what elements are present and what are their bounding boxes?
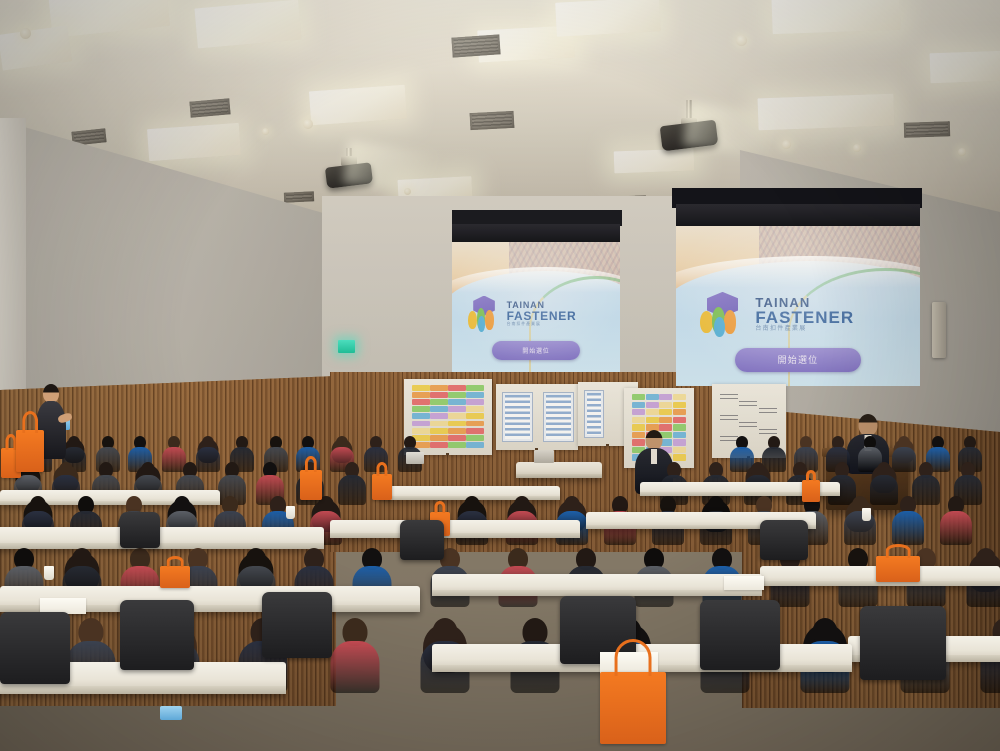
sticky-note xyxy=(430,399,448,405)
seated-attendee xyxy=(844,496,876,544)
recessed-led-panel xyxy=(771,0,900,34)
recessed-led-panel xyxy=(147,123,241,161)
recessed-downlight xyxy=(20,28,31,39)
handwritten-notes xyxy=(759,408,777,413)
sticky-note xyxy=(430,421,448,427)
sticky-note xyxy=(646,394,659,400)
recessed-downlight xyxy=(404,188,411,195)
sticky-note xyxy=(673,447,686,453)
recessed-led-panel xyxy=(309,85,407,126)
sticky-note xyxy=(430,385,448,391)
table-edge xyxy=(516,474,602,478)
sticky-note xyxy=(632,402,645,408)
sticky-note xyxy=(430,428,448,434)
logo-line-tainan: TAINAN xyxy=(755,296,903,309)
logo-line-fastener: FASTENER xyxy=(755,309,903,326)
attendee-chair xyxy=(0,612,70,684)
recessed-led-panel xyxy=(757,94,894,131)
person-torso xyxy=(940,511,972,545)
table-edge xyxy=(330,533,580,538)
sticky-note xyxy=(673,439,686,445)
handout-paper xyxy=(724,576,764,590)
sticky-note xyxy=(466,399,484,405)
sticky-note xyxy=(673,409,686,415)
projection-screen-right: TAINANFASTENER台南扣件產業展開始選位 xyxy=(676,204,920,386)
sticky-note xyxy=(448,399,466,405)
attendee-chair xyxy=(400,520,444,560)
handwritten-notes xyxy=(759,429,777,434)
screen-valance-top xyxy=(452,224,620,242)
screen-surface: TAINANFASTENER台南扣件產業展開始選位 xyxy=(676,226,920,386)
paper-cup xyxy=(44,566,54,580)
table-edge xyxy=(0,543,324,549)
conference-hall-photo: TAINANFASTENER台南扣件產業展開始選位TAINANFASTENER台… xyxy=(0,0,1000,751)
logo-flower-icon xyxy=(698,290,747,338)
logo-petal-3 xyxy=(485,310,494,330)
recessed-led-panel xyxy=(194,0,301,48)
laptop xyxy=(406,452,424,464)
attendee-table xyxy=(330,520,580,538)
whiteboard-2 xyxy=(496,384,578,450)
recessed-led-panel xyxy=(555,0,661,37)
logo-petal-4 xyxy=(478,316,485,332)
attendee-chair xyxy=(700,600,780,670)
bag-handle xyxy=(167,556,184,567)
recessed-downlight xyxy=(782,140,791,149)
sticky-note xyxy=(448,442,466,448)
sticky-note xyxy=(673,454,686,460)
paper-cup xyxy=(286,506,295,519)
bag-handle xyxy=(305,456,317,472)
sticky-note xyxy=(673,417,686,423)
sticky-note xyxy=(659,417,672,423)
printed-schedule-chart xyxy=(584,390,604,438)
seated-attendee xyxy=(330,618,379,691)
seated-attendee xyxy=(892,496,924,544)
handwritten-notes xyxy=(739,401,757,406)
recessed-led-panel xyxy=(929,51,1000,84)
person-torso xyxy=(892,511,924,545)
wall-mounted-speaker xyxy=(932,302,946,358)
sticky-note xyxy=(646,402,659,408)
handwritten-notes xyxy=(720,415,738,420)
printed-schedule-chart xyxy=(543,392,574,442)
person-torso xyxy=(338,475,366,505)
logo-petal-1 xyxy=(468,311,477,329)
screen-surface: TAINANFASTENER台南扣件產業展開始選位 xyxy=(452,242,620,372)
handwritten-notes xyxy=(720,394,738,399)
screen-valance-top xyxy=(676,204,920,226)
sticky-note xyxy=(673,402,686,408)
air-supply-vent xyxy=(904,121,950,138)
bag-handle xyxy=(5,434,16,450)
person-torso xyxy=(844,511,876,545)
recessed-downlight xyxy=(736,35,747,46)
sticky-note xyxy=(632,417,645,423)
sticky-note xyxy=(646,409,659,415)
sticky-note xyxy=(466,385,484,391)
attendee-chair xyxy=(262,592,332,658)
recessed-downlight xyxy=(853,144,861,152)
logo-wordmark: TAINANFASTENER台南扣件產業展 xyxy=(507,301,609,327)
sticky-note xyxy=(412,406,430,412)
logo-petal-3 xyxy=(724,310,737,334)
air-supply-vent xyxy=(451,34,500,57)
logo-line-subtitle: 台南扣件產業展 xyxy=(507,322,609,326)
table-edge xyxy=(0,686,286,694)
attendee-table xyxy=(432,574,762,596)
sticky-note xyxy=(448,406,466,412)
sticky-note xyxy=(659,402,672,408)
bag-handle xyxy=(806,470,816,481)
attendee-table xyxy=(0,527,324,549)
person-torso xyxy=(330,641,379,693)
recessed-led-panel xyxy=(0,25,72,70)
sticky-note xyxy=(659,409,672,415)
logo-petal-4 xyxy=(714,317,725,337)
sticky-note xyxy=(412,428,430,434)
sticky-note xyxy=(448,385,466,391)
air-supply-vent xyxy=(470,111,515,130)
sticky-note xyxy=(466,428,484,434)
air-supply-vent xyxy=(189,98,230,117)
logo-line-subtitle: 台南扣件產業展 xyxy=(755,326,903,333)
attendee-chair xyxy=(860,606,946,680)
orange-tote-bag xyxy=(160,566,190,588)
smartphone xyxy=(160,706,182,720)
bag-handle xyxy=(615,639,652,676)
sticky-note xyxy=(466,421,484,427)
seated-attendee xyxy=(338,462,366,503)
person-head xyxy=(859,414,878,436)
sticky-note xyxy=(412,399,430,405)
sticky-note xyxy=(448,428,466,434)
sticky-note xyxy=(448,413,466,419)
attendee-chair xyxy=(120,512,160,548)
orange-tote-bag xyxy=(300,470,322,500)
orange-tote-bag xyxy=(876,556,920,582)
sticky-note xyxy=(448,421,466,427)
orange-tote-bag xyxy=(802,480,820,502)
person-head xyxy=(646,430,663,450)
event-logo: TAINANFASTENER台南扣件產業展 xyxy=(467,294,608,333)
sticky-note xyxy=(430,435,448,441)
bag-handle xyxy=(22,411,38,433)
air-supply-vent xyxy=(284,191,314,203)
orange-tote-bag xyxy=(372,474,392,500)
logo-petal-1 xyxy=(700,311,713,333)
sticky-note xyxy=(430,392,448,398)
slide-start-button[interactable]: 開始選位 xyxy=(735,348,862,372)
orange-tote-bag xyxy=(600,672,666,744)
sticky-note xyxy=(412,413,430,419)
event-logo: TAINANFASTENER台南扣件產業展 xyxy=(698,290,903,338)
sticky-note xyxy=(412,392,430,398)
attendee-chair xyxy=(760,520,808,560)
slide-start-button[interactable]: 開始選位 xyxy=(492,341,579,361)
sticky-note xyxy=(448,392,466,398)
attendee-chair xyxy=(120,600,194,670)
board-stand-leg xyxy=(446,453,449,455)
handwritten-notes xyxy=(739,422,757,427)
paper-cup xyxy=(862,508,871,521)
bag-handle xyxy=(434,501,445,513)
slide-content: TAINANFASTENER台南扣件產業展開始選位 xyxy=(452,242,620,372)
sticky-note xyxy=(466,435,484,441)
sticky-note xyxy=(673,424,686,430)
ceiling-mounted-projector xyxy=(326,148,372,182)
sticky-note xyxy=(466,413,484,419)
sticky-note xyxy=(466,442,484,448)
logo-wordmark: TAINANFASTENER台南扣件產業展 xyxy=(755,296,903,333)
laptop xyxy=(534,450,554,463)
sticky-note xyxy=(412,421,430,427)
sticky-note xyxy=(430,442,448,448)
sticky-note xyxy=(430,413,448,419)
recessed-downlight xyxy=(303,119,313,129)
sticky-note xyxy=(673,432,686,438)
sticky-note xyxy=(659,394,672,400)
attendee-table xyxy=(516,462,602,478)
sticky-note xyxy=(466,406,484,412)
ceiling-mounted-projector xyxy=(660,100,718,144)
recessed-led-panel xyxy=(614,149,695,174)
bag-handle xyxy=(886,544,911,558)
shirt-collar xyxy=(651,449,657,464)
sticky-note xyxy=(632,394,645,400)
sticky-note xyxy=(632,409,645,415)
board-stand-leg xyxy=(606,444,609,446)
projection-screen-left: TAINANFASTENER台南扣件產業展開始選位 xyxy=(452,224,620,372)
sticky-note xyxy=(412,385,430,391)
bag-handle xyxy=(376,462,387,476)
slide-content: TAINANFASTENER台南扣件產業展開始選位 xyxy=(676,226,920,386)
sticky-note xyxy=(466,392,484,398)
sticky-note xyxy=(448,435,466,441)
recessed-downlight xyxy=(262,128,269,135)
sticky-note xyxy=(430,406,448,412)
wall-corner-pilaster xyxy=(0,118,26,428)
logo-flower-icon xyxy=(467,294,501,333)
orange-tote-bag xyxy=(16,430,44,472)
sticky-note xyxy=(646,417,659,423)
sticky-note xyxy=(673,394,686,400)
recessed-downlight xyxy=(958,148,966,156)
seated-attendee xyxy=(940,496,972,544)
printed-schedule-chart xyxy=(502,392,533,442)
emergency-exit-sign xyxy=(338,340,355,353)
